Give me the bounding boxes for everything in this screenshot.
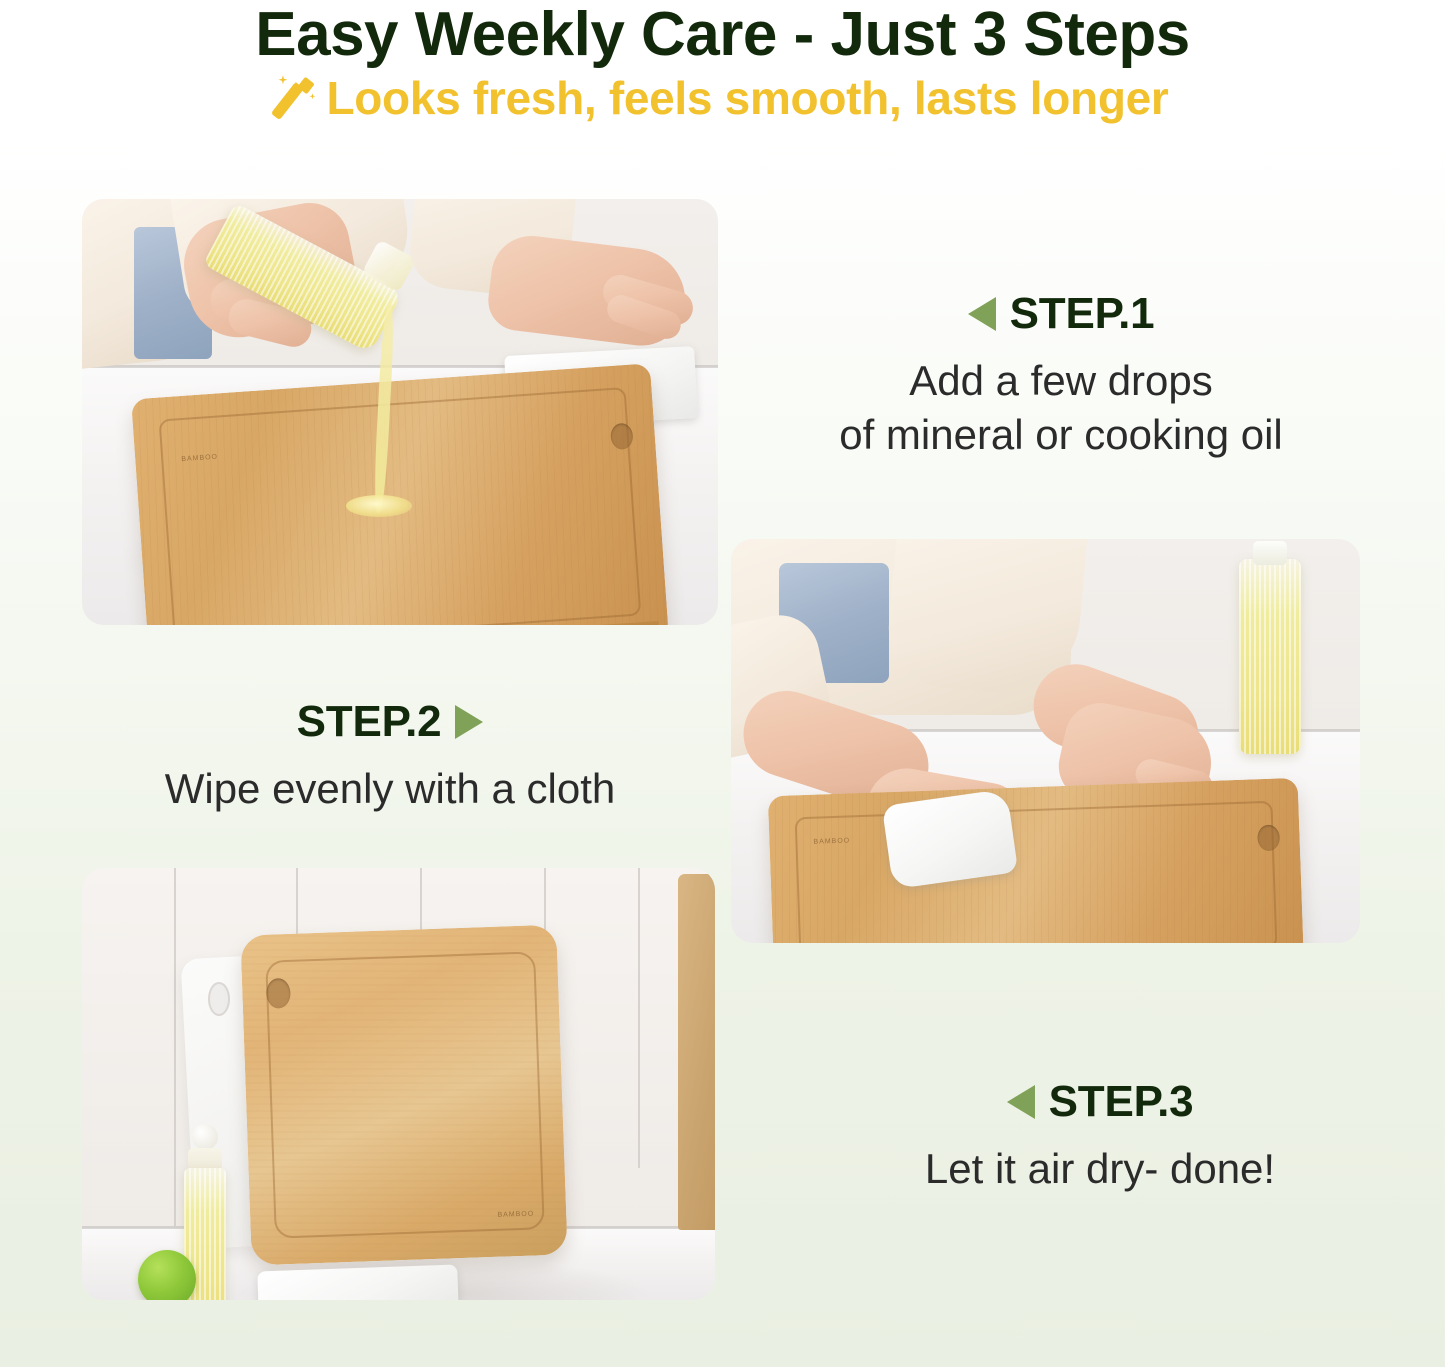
cutting-board: BAMBOO [131, 363, 669, 625]
step-1-heading: STEP.1 [736, 292, 1386, 336]
white-board-hole [208, 982, 230, 1016]
page-subtitle: Looks fresh, feels smooth, lasts longer [326, 73, 1168, 124]
step-2-text-block: STEP.2 Wipe evenly with a cloth [60, 700, 720, 816]
bottle-cap [1253, 541, 1287, 565]
photo-step-2: BAMBOO [731, 539, 1360, 943]
cutting-board-3: BAMBOO [240, 925, 567, 1266]
infographic-page: Easy Weekly Care - Just 3 Steps Looks fr… [0, 0, 1445, 1367]
header: Easy Weekly Care - Just 3 Steps Looks fr… [0, 0, 1445, 124]
photo-step-3: BAMBOO [82, 868, 715, 1300]
folded-towel [257, 1265, 458, 1300]
oil-bottle-upright [1239, 559, 1301, 754]
photo-step-1: BAMBOO [82, 199, 718, 625]
triangle-left-icon [968, 297, 996, 331]
step-1-text-block: STEP.1 Add a few drops of mineral or coo… [736, 292, 1386, 462]
cutting-board-2: BAMBOO [768, 778, 1304, 943]
bottle-stopper [192, 1124, 218, 1150]
lime [138, 1250, 196, 1300]
board-brand-logo-3: BAMBOO [497, 1211, 534, 1219]
scene-wiping-board: BAMBOO [731, 539, 1360, 943]
step-1-label: STEP.1 [1010, 292, 1155, 336]
knife-block [678, 874, 715, 1230]
step-2-label: STEP.2 [297, 700, 442, 744]
scene-air-drying: BAMBOO [82, 868, 715, 1300]
triangle-right-icon [455, 705, 483, 739]
step-3-label: STEP.3 [1049, 1080, 1194, 1124]
triangle-left-icon-2 [1007, 1085, 1035, 1119]
step-3-text-block: STEP.3 Let it air dry- done! [790, 1080, 1410, 1196]
step-3-heading: STEP.3 [790, 1080, 1410, 1124]
step-2-description: Wipe evenly with a cloth [60, 762, 720, 816]
magic-wand-icon [276, 74, 320, 122]
step-1-description: Add a few drops of mineral or cooking oi… [736, 354, 1386, 462]
scene-pouring-oil: BAMBOO [82, 199, 718, 625]
bottle-neck-3 [188, 1148, 222, 1170]
page-title: Easy Weekly Care - Just 3 Steps [0, 0, 1445, 69]
step-3-description: Let it air dry- done! [790, 1142, 1410, 1196]
wiping-cloth [882, 789, 1018, 890]
subtitle-row: Looks fresh, feels smooth, lasts longer [0, 73, 1445, 124]
step-2-heading: STEP.2 [60, 700, 720, 744]
oil-pool [346, 495, 412, 517]
board-brand-logo-2: BAMBOO [813, 837, 850, 845]
